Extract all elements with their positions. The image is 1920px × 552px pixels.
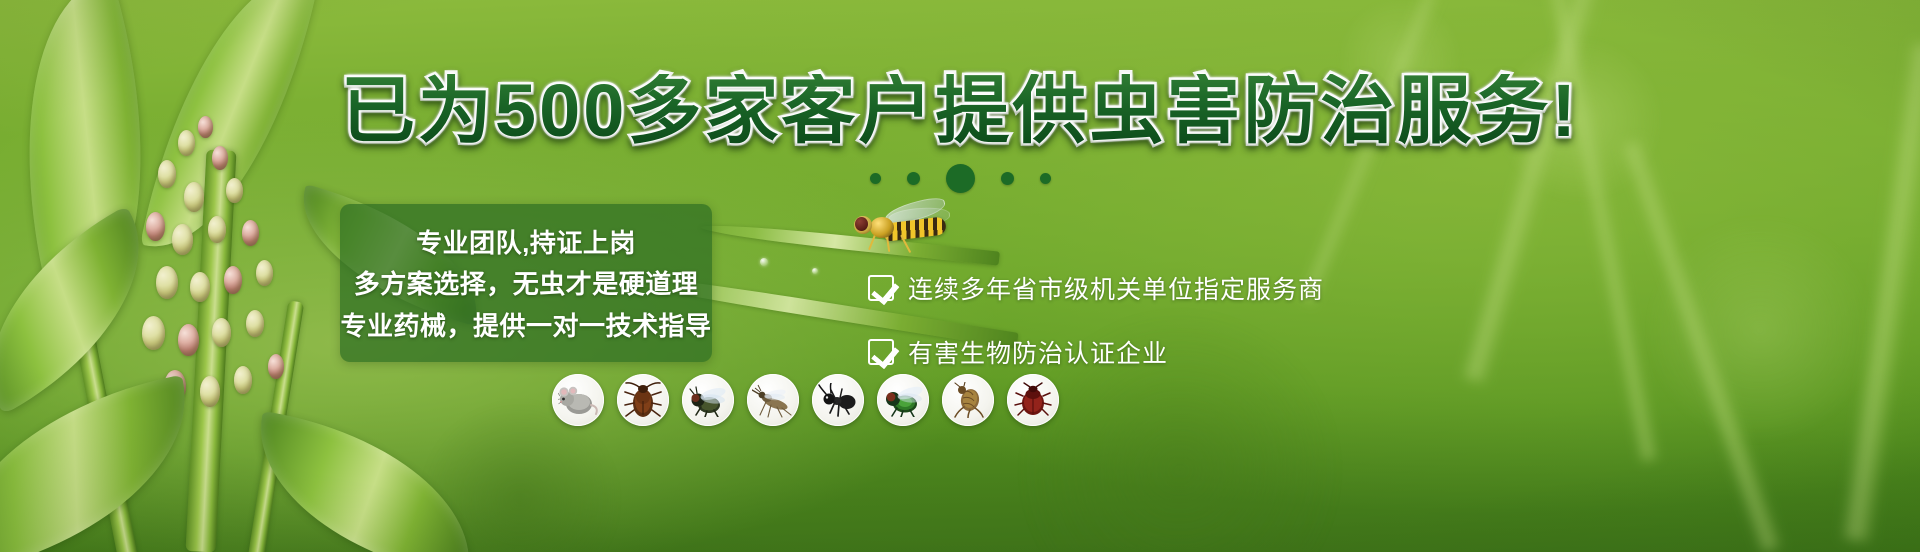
selling-points-text-group: 专业团队,持证上岗 多方案选择，无虫才是硬道理 专业药械，提供一对一技术指导 <box>330 205 722 365</box>
ant-icon[interactable] <box>812 374 864 426</box>
fly-icon[interactable] <box>682 374 734 426</box>
dots-divider <box>0 164 1920 193</box>
cockroach-icon[interactable] <box>617 374 669 426</box>
credential-label: 有害生物防治认证企业 <box>908 334 1168 370</box>
credentials-checklist: 连续多年省市级机关单位指定服务商 有害生物防治认证企业 <box>868 270 1324 370</box>
hoverfly-icon <box>848 200 958 258</box>
page-title: 已为500多家客户提供虫害防治服务! <box>0 74 1920 148</box>
blowfly-icon[interactable] <box>877 374 929 426</box>
divider-dot-medium <box>1001 172 1014 185</box>
checkbox-checked-icon <box>868 275 894 301</box>
pest-type-icon-row <box>552 374 1059 426</box>
dew-drop <box>760 258 768 266</box>
selling-point-line-3: 专业药械，提供一对一技术指导 <box>338 313 714 340</box>
divider-dot-small <box>1040 173 1051 184</box>
list-item: 有害生物防治认证企业 <box>868 334 1324 370</box>
selling-point-line-1: 专业团队,持证上岗 <box>338 230 714 257</box>
mouse-icon[interactable] <box>552 374 604 426</box>
mosquito-icon[interactable] <box>747 374 799 426</box>
divider-dot-medium <box>907 172 920 185</box>
list-item: 连续多年省市级机关单位指定服务商 <box>868 270 1324 306</box>
divider-dot-small <box>870 173 881 184</box>
checkbox-checked-icon <box>868 339 894 365</box>
bedbug-icon[interactable] <box>1007 374 1059 426</box>
credential-label: 连续多年省市级机关单位指定服务商 <box>908 270 1324 306</box>
dew-drop <box>812 268 818 274</box>
flea-icon[interactable] <box>942 374 994 426</box>
divider-dot-large <box>946 164 975 193</box>
pest-control-hero-banner: 已为500多家客户提供虫害防治服务! 已为500多家客户提供虫害防治服务! 专业… <box>0 0 1920 552</box>
selling-point-line-2: 多方案选择，无虫才是硬道理 <box>338 271 714 298</box>
